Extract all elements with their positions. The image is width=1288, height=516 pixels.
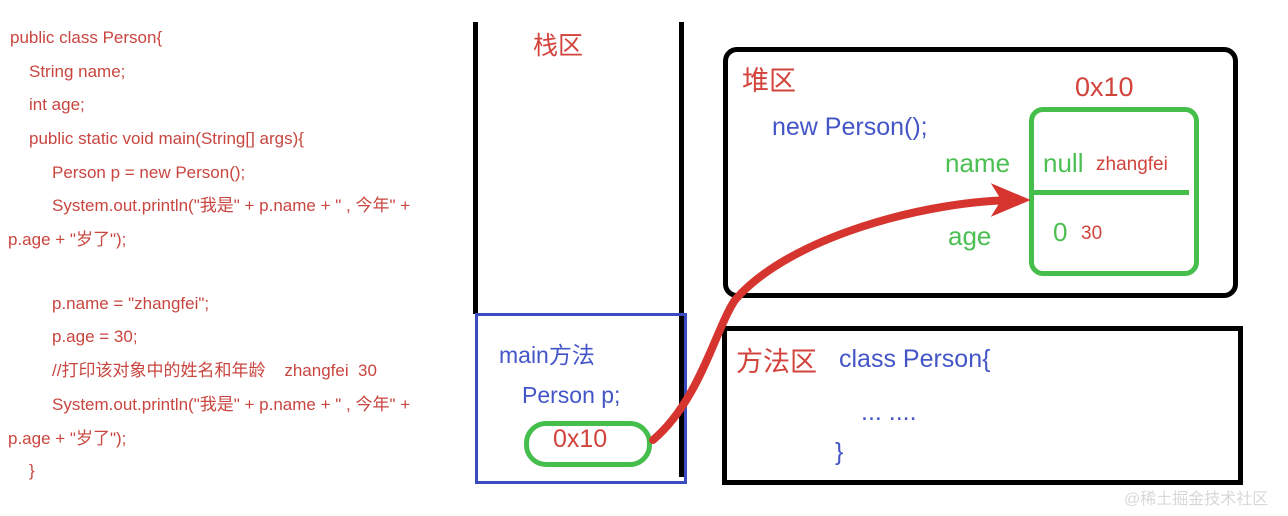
stack-left-border <box>473 22 478 314</box>
heap-title: 堆区 <box>742 59 796 98</box>
heap-object-address: 0x10 <box>1075 72 1134 103</box>
code-line: int age; <box>29 96 85 113</box>
code-line: p.age + "岁了"); <box>8 430 126 447</box>
code-line: Person p = new Person(); <box>52 164 245 181</box>
field-initial-age: 0 <box>1053 217 1067 248</box>
jvm-memory-diagram: public class Person{ String name; int ag… <box>0 0 1288 516</box>
field-label-name: name <box>945 148 1010 179</box>
code-line: public static void main(String[] args){ <box>29 130 304 147</box>
watermark: @稀土掘金技术社区 <box>1124 485 1268 509</box>
field-assigned-name: zhangfei <box>1096 154 1168 176</box>
code-line: public class Person{ <box>10 29 162 46</box>
stack-variable-label: Person p; <box>522 382 620 409</box>
method-area-title: 方法区 <box>736 340 817 379</box>
code-line: System.out.println("我是" + p.name + " , 今… <box>52 396 410 413</box>
field-assigned-age: 30 <box>1081 223 1102 245</box>
stack-title: 栈区 <box>533 26 583 62</box>
code-line: String name; <box>29 63 125 80</box>
main-method-label: main方法 <box>499 336 595 370</box>
method-area-line: ... .... <box>861 398 917 427</box>
code-line-comment: //打印该对象中的姓名和年龄 zhangfei 30 <box>52 362 377 379</box>
method-area-line: class Person{ <box>839 345 990 374</box>
method-area-line: } <box>835 438 843 467</box>
code-line: p.name = "zhangfei"; <box>52 295 209 312</box>
code-line: } <box>29 462 35 479</box>
field-label-age: age <box>948 221 991 252</box>
code-line: p.age = 30; <box>52 328 138 345</box>
object-field-divider <box>1029 190 1189 195</box>
new-expression: new Person(); <box>772 113 928 142</box>
code-line: System.out.println("我是" + p.name + " , 今… <box>52 197 410 214</box>
code-line: p.age + "岁了"); <box>8 231 126 248</box>
field-initial-name: null <box>1043 148 1083 179</box>
stack-reference-value: 0x10 <box>553 425 607 454</box>
